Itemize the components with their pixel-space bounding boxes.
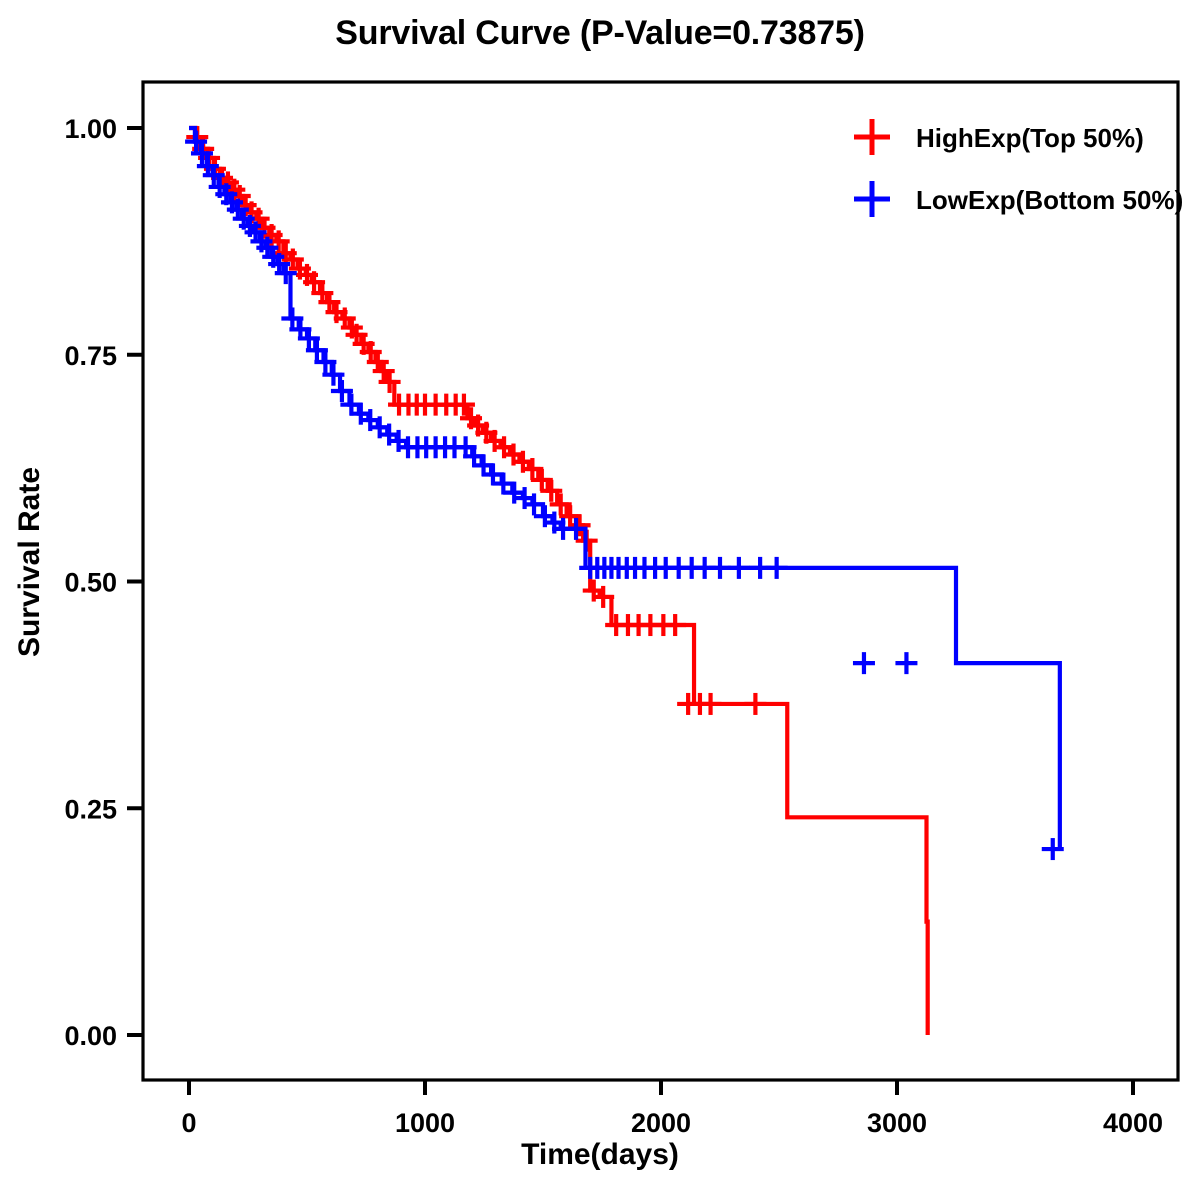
x-tick-label: 1000	[395, 1108, 455, 1138]
x-tick-label: 3000	[867, 1108, 927, 1138]
legend-label: LowExp(Bottom 50%)	[916, 185, 1183, 215]
series-low-exp	[185, 128, 1064, 860]
y-tick-label: 1.00	[64, 114, 117, 144]
x-axis-ticks: 01000200030004000	[181, 1080, 1163, 1138]
series-layer	[185, 126, 1064, 1035]
legend-item-low-exp[interactable]: LowExp(Bottom 50%)	[854, 181, 1183, 217]
y-tick-label: 0.00	[64, 1021, 117, 1051]
legend-label: HighExp(Top 50%)	[916, 123, 1144, 153]
plus-marker-icon	[854, 181, 890, 217]
plus-marker-icon	[854, 119, 890, 155]
legend-item-high-exp[interactable]: HighExp(Top 50%)	[854, 119, 1144, 155]
series-high-exp	[186, 126, 927, 1035]
y-tick-label: 0.75	[64, 341, 117, 371]
plot-area: 01000200030004000 0.000.250.500.751.00 H…	[0, 0, 1200, 1200]
y-axis-ticks: 0.000.250.500.751.00	[64, 114, 143, 1051]
y-tick-label: 0.25	[64, 794, 117, 824]
survival-step-line	[189, 128, 1060, 849]
axis-frame	[143, 82, 1178, 1080]
x-tick-label: 4000	[1103, 1108, 1163, 1138]
survival-curve-figure: Survival Curve (P-Value=0.73875) Surviva…	[0, 0, 1200, 1200]
censor-marks	[185, 131, 1064, 860]
x-tick-label: 2000	[631, 1108, 691, 1138]
y-tick-label: 0.50	[64, 568, 117, 598]
x-tick-label: 0	[181, 1108, 196, 1138]
censor-marks	[186, 126, 766, 715]
chart-legend: HighExp(Top 50%)LowExp(Bottom 50%)	[854, 119, 1183, 217]
